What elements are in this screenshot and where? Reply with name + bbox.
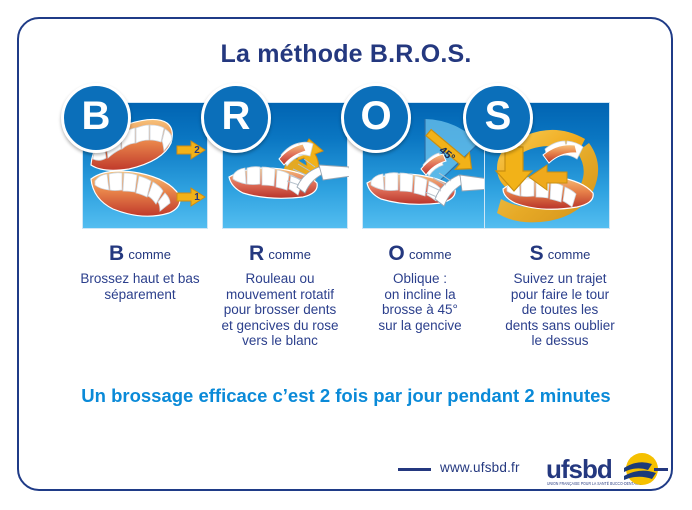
badge-b: B <box>61 83 131 153</box>
footer: www.ufsbd.fr ufsbd UNION FRANÇAISE POUR … <box>398 452 660 494</box>
caption-line: dents sans oublier <box>482 318 638 334</box>
panel-b: 2 1 B <box>82 102 208 229</box>
caption-o: O comme Oblique : on incline la brosse à… <box>342 243 498 333</box>
poster-root: La méthode B.R.O.S. <box>0 0 692 510</box>
footer-rule-left <box>398 468 431 471</box>
caption-o-head: O comme <box>342 243 498 264</box>
caption-b-letter: B <box>109 242 124 265</box>
badge-r: R <box>201 83 271 153</box>
caption-r-head: R comme <box>202 243 358 264</box>
panels-row: 2 1 B <box>82 102 610 230</box>
caption-line: Oblique : <box>342 271 498 287</box>
caption-b-body: Brossez haut et bas séparement <box>62 271 218 302</box>
caption-line: mouvement rotatif <box>202 287 358 303</box>
caption-line: sur la gencive <box>342 318 498 334</box>
panel-s: S <box>484 102 610 229</box>
caption-line: Suivez un trajet <box>482 271 638 287</box>
badge-s: S <box>463 83 533 153</box>
panel-r: R <box>222 102 348 229</box>
badge-o: O <box>341 83 411 153</box>
caption-r-body: Rouleau ou mouvement rotatif pour brosse… <box>202 271 358 349</box>
footer-rule-right <box>654 468 668 471</box>
caption-line: de toutes les <box>482 302 638 318</box>
page-title: La méthode B.R.O.S. <box>0 40 692 69</box>
caption-line: brosse à 45° <box>342 302 498 318</box>
caption-line: pour brosser dents <box>202 302 358 318</box>
caption-line: pour faire le tour <box>482 287 638 303</box>
caption-b: B comme Brossez haut et bas séparement <box>62 243 218 302</box>
website-url[interactable]: www.ufsbd.fr <box>440 460 520 475</box>
caption-r: R comme Rouleau ou mouvement rotatif pou… <box>202 243 358 349</box>
caption-s: S comme Suivez un trajet pour faire le t… <box>482 243 638 349</box>
caption-line: Brossez haut et bas <box>62 271 218 287</box>
caption-line: le dessus <box>482 333 638 349</box>
caption-b-comme: comme <box>128 247 171 262</box>
caption-b-head: B comme <box>62 243 218 264</box>
caption-line: séparement <box>62 287 218 303</box>
arrow-1: 1 <box>177 188 205 206</box>
caption-o-letter: O <box>388 242 404 265</box>
caption-s-comme: comme <box>548 247 591 262</box>
tagline: Un brossage efficace c’est 2 fois par jo… <box>0 385 692 407</box>
caption-s-head: S comme <box>482 243 638 264</box>
caption-o-comme: comme <box>409 247 452 262</box>
caption-s-letter: S <box>530 242 544 265</box>
caption-r-letter: R <box>249 242 264 265</box>
svg-text:2: 2 <box>194 145 200 156</box>
caption-o-body: Oblique : on incline la brosse à 45° sur… <box>342 271 498 333</box>
caption-line: Rouleau ou <box>202 271 358 287</box>
arrow-2: 2 <box>177 141 205 159</box>
caption-line: on incline la <box>342 287 498 303</box>
caption-line: vers le blanc <box>202 333 358 349</box>
caption-r-comme: comme <box>268 247 311 262</box>
svg-text:1: 1 <box>194 192 200 203</box>
caption-s-body: Suivez un trajet pour faire le tour de t… <box>482 271 638 349</box>
caption-line: et gencives du rose <box>202 318 358 334</box>
ufsbd-logo[interactable]: ufsbd UNION FRANÇAISE POUR LA SANTÉ BUCC… <box>546 452 658 492</box>
